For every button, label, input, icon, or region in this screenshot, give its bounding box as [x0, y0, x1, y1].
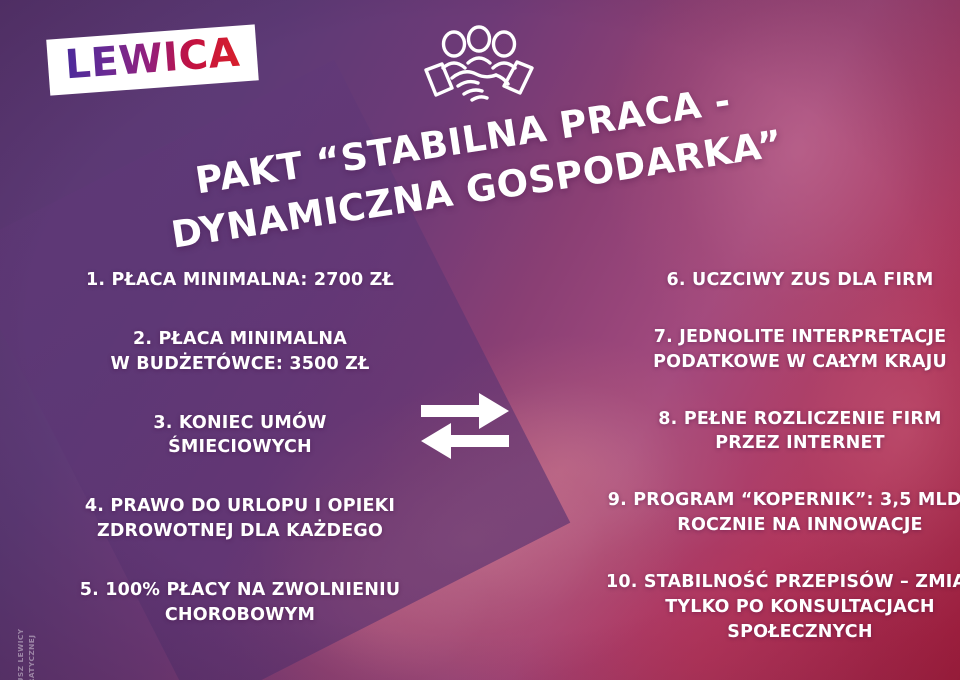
logo-wordmark: LEWICA: [63, 30, 241, 89]
points-right-column: 6. UCZCIWY ZUS DLA FIRM 7. JEDNOLITE INT…: [542, 268, 960, 676]
list-item: 8. PEŁNE ROZLICZENIE FIRM PRZEZ INTERNET: [658, 407, 941, 457]
list-item: 5. 100% PŁACY NA ZWOLNIENIU CHOROBOWYM: [80, 578, 400, 628]
list-item: 4. PRAWO DO URLOPU I OPIEKI ZDROWOTNEJ D…: [85, 494, 395, 544]
list-item: 2. PŁACA MINIMALNA W BUDŻETÓWCE: 3500 ZŁ: [110, 327, 369, 377]
poster-canvas: LEWICA PAKT “STABILNA PRACA - D: [0, 0, 960, 680]
list-item: 10. STABILNOŚĆ PRZEPISÓW – ZMIANY TYLKO …: [606, 570, 960, 645]
list-item: 1. PŁACA MINIMALNA: 2700 ZŁ: [86, 268, 394, 293]
list-item: 6. UCZCIWY ZUS DLA FIRM: [667, 268, 934, 293]
points-container: 1. PŁACA MINIMALNA: 2700 ZŁ 2. PŁACA MIN…: [0, 268, 960, 676]
list-item: 9. PROGRAM “KOPERNIK”: 3,5 MLD ZŁ ROCZNI…: [608, 488, 960, 538]
exchange-arrows-icon: [419, 391, 511, 461]
handshake-people-icon: [418, 22, 540, 104]
list-item: 7. JEDNOLITE INTERPRETACJE PODATKOWE W C…: [653, 325, 947, 375]
list-item: 3. KONIEC UMÓW ŚMIECIOWYCH: [153, 411, 326, 461]
points-left-column: 1. PŁACA MINIMALNA: 2700 ZŁ 2. PŁACA MIN…: [0, 268, 542, 676]
